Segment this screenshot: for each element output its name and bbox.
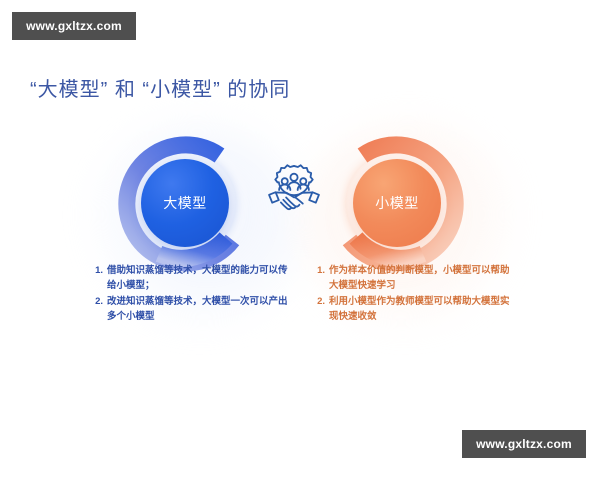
handshake-gear-people-icon: [266, 162, 322, 218]
bullet-number: 1.: [310, 263, 325, 278]
watermark-top-left: www.gxltzx.com: [12, 12, 136, 40]
bullet-text: 作为样本价值的判断模型，小模型可以帮助大模型快速学习: [329, 263, 515, 293]
bullet-number: 2.: [310, 294, 325, 309]
node-small-model[interactable]: 小模型: [326, 132, 468, 274]
big-model-core-label: 大模型: [141, 159, 229, 247]
list-item: 2. 利用小模型作为教师模型可以帮助大模型实现快速收敛: [310, 294, 515, 324]
page-title: “大模型” 和 “小模型” 的协同: [30, 73, 290, 102]
list-item: 2. 改进知识蒸馏等技术，大模型一次可以产出多个小模型: [88, 294, 288, 324]
bullet-text: 利用小模型作为教师模型可以帮助大模型实现快速收敛: [329, 294, 515, 324]
bullet-text: 借助知识蒸馏等技术，大模型的能力可以传给小模型；: [107, 263, 288, 293]
left-bullet-list: 1. 借助知识蒸馏等技术，大模型的能力可以传给小模型； 2. 改进知识蒸馏等技术…: [88, 263, 288, 325]
right-bullet-list: 1. 作为样本价值的判断模型，小模型可以帮助大模型快速学习 2. 利用小模型作为…: [310, 263, 515, 325]
list-item: 1. 借助知识蒸馏等技术，大模型的能力可以传给小模型；: [88, 263, 288, 293]
node-big-model[interactable]: 大模型: [114, 132, 256, 274]
bullet-number: 2.: [88, 294, 103, 309]
bullet-number: 1.: [88, 263, 103, 278]
bullet-text: 改进知识蒸馏等技术，大模型一次可以产出多个小模型: [107, 294, 288, 324]
list-item: 1. 作为样本价值的判断模型，小模型可以帮助大模型快速学习: [310, 263, 515, 293]
slide-canvas: www.gxltzx.com “大模型” 和 “小模型” 的协同: [0, 0, 600, 480]
small-model-core-label: 小模型: [353, 159, 441, 247]
watermark-bottom-right: www.gxltzx.com: [462, 430, 586, 458]
